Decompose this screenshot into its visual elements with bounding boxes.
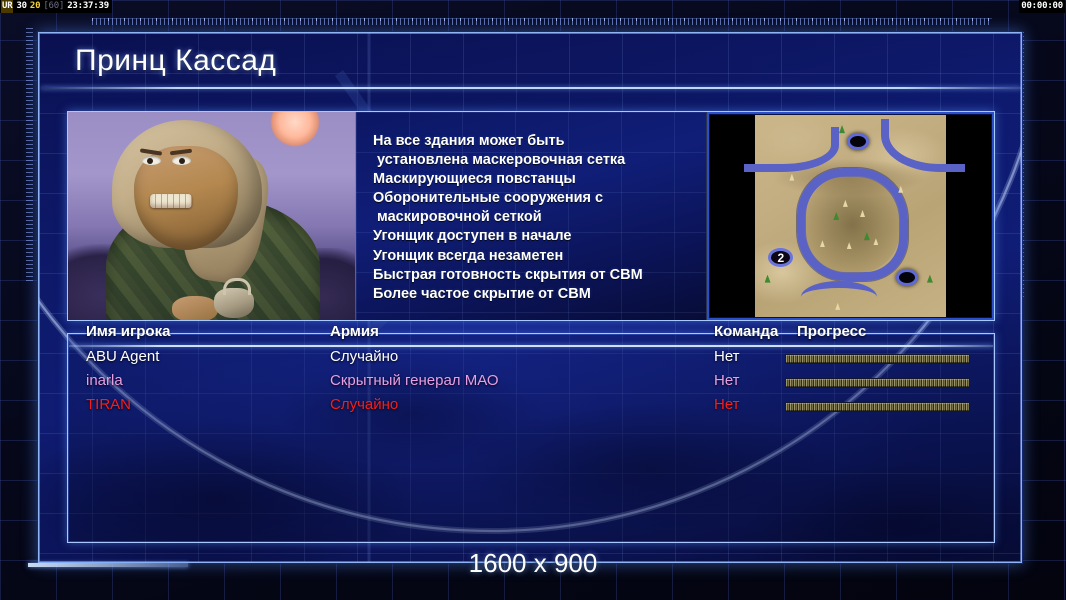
player-army[interactable]: Случайно xyxy=(330,348,398,365)
ability-line: На все здания может быть xyxy=(373,132,698,151)
ruler-left-decoration xyxy=(26,28,33,283)
map-spawn-marker xyxy=(847,133,869,150)
player-row[interactable]: TIRAN Случайно Нет xyxy=(68,396,994,420)
map-start-position-2: 2 xyxy=(768,248,793,267)
ability-line: Быстрая готовность скрытия от СВМ xyxy=(373,266,698,285)
title-divider xyxy=(41,87,1021,89)
loading-screen: UR 30 20 [60] 23:37:39 00:00:00 Принц Ка… xyxy=(0,0,1066,600)
fps-value: 30 xyxy=(16,0,26,13)
resolution-caption: 1600 x 900 xyxy=(0,548,1066,579)
portrait-pupil-right xyxy=(179,158,185,164)
system-clock: 23:37:39 xyxy=(67,0,109,13)
player-list-panel: Имя игрока Армия Команда Прогресс ABU Ag… xyxy=(67,333,995,543)
render-mode-label: UR xyxy=(1,0,13,13)
portrait-teeth xyxy=(150,194,192,208)
general-info-panel: На все здания может быть установлена мас… xyxy=(67,111,995,321)
ruler-top-major-ticks xyxy=(92,18,992,21)
lobby-window: Принц Кассад xyxy=(38,32,1022,563)
header-divider xyxy=(69,345,993,347)
player-progress-bar xyxy=(785,402,970,412)
column-header-team: Команда xyxy=(714,323,778,340)
session-timer: 00:00:00 xyxy=(1019,0,1065,13)
column-header-army: Армия xyxy=(330,323,379,340)
ability-line: Более частое скрытие от СВМ xyxy=(373,285,698,304)
player-army[interactable]: Скрытный генерал МАО xyxy=(330,372,499,389)
player-team[interactable]: Нет xyxy=(714,372,740,389)
ability-line: Оборонительные сооружения с xyxy=(373,189,698,208)
ability-line: Угонщик доступен в начале xyxy=(373,227,698,246)
ability-line: Маскирующиеся повстанцы xyxy=(373,170,698,189)
frame-cap-value: [60] xyxy=(43,0,64,13)
player-team[interactable]: Нет xyxy=(714,348,740,365)
player-progress-bar xyxy=(785,378,970,388)
player-name: ABU Agent xyxy=(86,348,159,365)
player-army[interactable]: Случайно xyxy=(330,396,398,413)
column-header-name: Имя игрока xyxy=(86,323,170,340)
map-center-plateau xyxy=(805,176,901,273)
player-name: inarla xyxy=(86,372,123,389)
ability-line: установлена маскеровочная сетка xyxy=(373,151,698,170)
map-preview: 2 xyxy=(706,112,994,320)
portrait-hand xyxy=(172,296,218,320)
debug-statusbar: UR 30 20 [60] 23:37:39 00:00:00 xyxy=(0,0,1066,13)
player-row[interactable]: inarla Скрытный генерал МАО Нет xyxy=(68,372,994,396)
player-progress-bar xyxy=(785,354,970,364)
map-tree-icon xyxy=(927,275,933,283)
player-row[interactable]: ABU Agent Случайно Нет xyxy=(68,348,994,372)
general-portrait xyxy=(68,112,356,320)
column-header-progress: Прогресс xyxy=(797,323,866,340)
player-name: TIRAN xyxy=(86,396,131,413)
ability-line: маскировочной сеткой xyxy=(373,208,698,227)
frame-value: 20 xyxy=(30,0,40,13)
ability-line: Угонщик всегда незаметен xyxy=(373,247,698,266)
player-team[interactable]: Нет xyxy=(714,396,740,413)
portrait-pupil-left xyxy=(147,158,153,164)
title-zone: Принц Кассад xyxy=(39,33,1022,91)
portrait-teapot xyxy=(214,288,254,318)
map-tree-icon xyxy=(839,125,845,133)
player-list-header: Имя игрока Армия Команда Прогресс xyxy=(68,323,994,345)
map-terrain: 2 xyxy=(755,115,946,317)
debug-stats-group: UR 30 20 [60] 23:37:39 xyxy=(0,0,112,13)
general-ability-list: На все здания может быть установлена мас… xyxy=(356,112,706,320)
map-tree-icon xyxy=(765,275,771,283)
map-spawn-marker xyxy=(896,269,918,286)
page-title: Принц Кассад xyxy=(75,44,276,78)
